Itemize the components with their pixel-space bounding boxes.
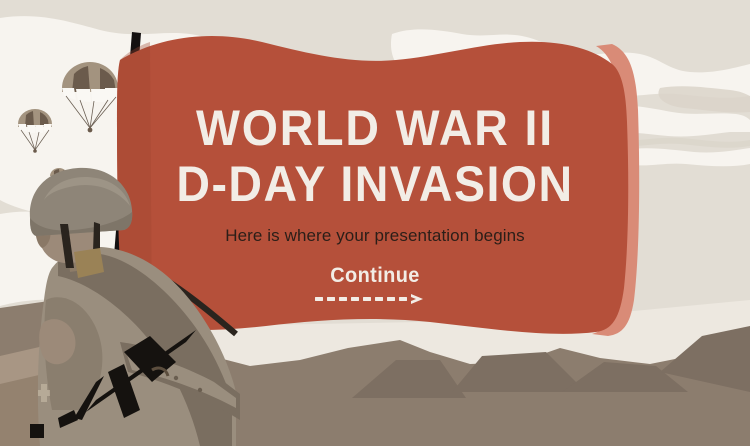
slide-subtitle: Here is where your presentation begins	[0, 226, 750, 246]
gear-dark-box	[30, 424, 44, 438]
dashed-arrow-icon	[315, 292, 435, 306]
slide-title-line-2: D-DAY INVASION	[26, 156, 724, 212]
continue-button-label: Continue	[318, 264, 432, 288]
slide-text-block: WORLD WAR II D-DAY INVASION Here is wher…	[0, 100, 750, 311]
continue-button[interactable]: Continue	[315, 264, 435, 306]
slide-title-line-1: WORLD WAR II	[26, 100, 724, 156]
presentation-slide: WORLD WAR II D-DAY INVASION Here is wher…	[0, 0, 750, 446]
